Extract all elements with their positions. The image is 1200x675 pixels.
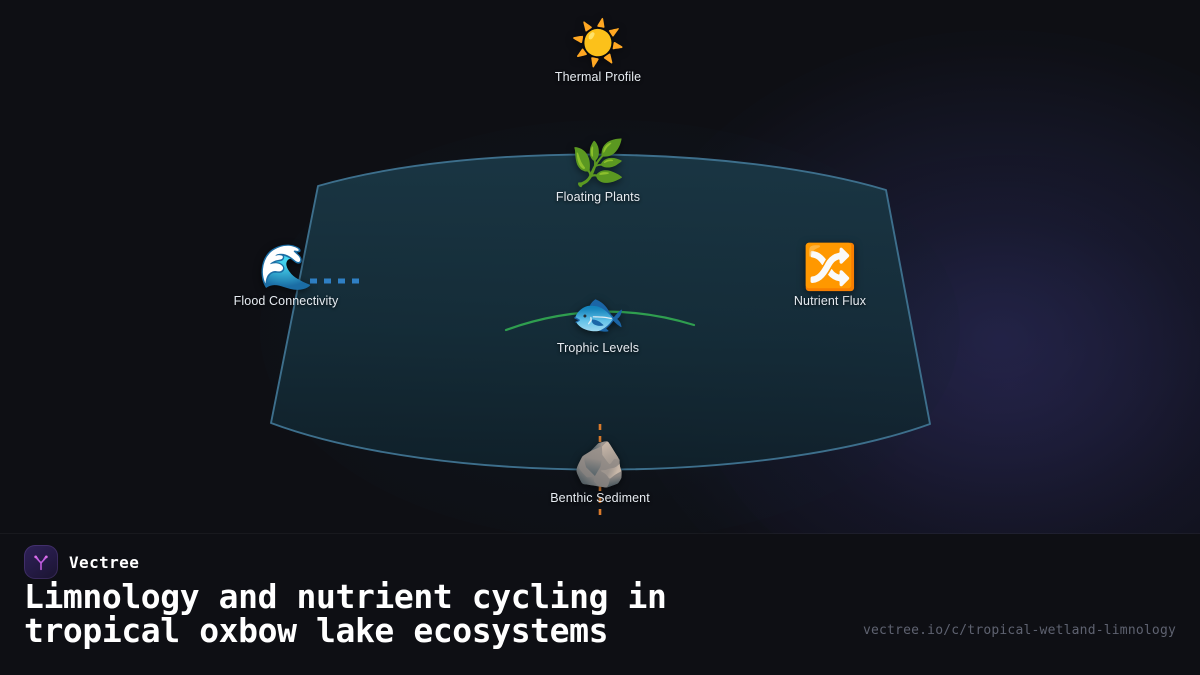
node-label-flood-connectivity: Flood Connectivity bbox=[191, 294, 381, 308]
deck-title: Limnology and nutrient cycling in tropic… bbox=[24, 580, 784, 648]
node-benthic-sediment[interactable]: 🪨 Benthic Sediment bbox=[505, 441, 695, 505]
node-thermal-profile[interactable]: ☀️ Thermal Profile bbox=[503, 20, 693, 84]
node-label-benthic-sediment: Benthic Sediment bbox=[505, 491, 695, 505]
node-trophic-levels[interactable]: 🐟 Trophic Levels bbox=[503, 291, 693, 355]
herb-leaf-icon: 🌿 bbox=[503, 140, 693, 188]
node-label-trophic-levels: Trophic Levels bbox=[503, 341, 693, 355]
brand-name: Vectree bbox=[69, 553, 139, 572]
diagram-canvas: ☀️ Thermal Profile 🌿 Floating Plants 🌊 F… bbox=[0, 0, 1200, 675]
node-floating-plants[interactable]: 🌿 Floating Plants bbox=[503, 140, 693, 204]
sun-icon: ☀️ bbox=[503, 20, 693, 68]
footer-bar: Vectree Limnology and nutrient cycling i… bbox=[0, 534, 1200, 675]
brand-row[interactable]: Vectree bbox=[24, 545, 139, 579]
node-flood-connectivity[interactable]: 🌊 Flood Connectivity bbox=[191, 244, 381, 308]
deck-url: vectree.io/c/tropical-wetland-limnology bbox=[863, 623, 1176, 638]
vectree-mark-icon bbox=[30, 551, 52, 573]
water-wave-icon: 🌊 bbox=[191, 244, 381, 292]
vectree-logo bbox=[24, 545, 58, 579]
swap-arrows-icon: 🔀 bbox=[735, 244, 925, 292]
node-label-thermal-profile: Thermal Profile bbox=[503, 70, 693, 84]
node-nutrient-flux[interactable]: 🔀 Nutrient Flux bbox=[735, 244, 925, 308]
fish-icon: 🐟 bbox=[503, 291, 693, 339]
node-label-floating-plants: Floating Plants bbox=[503, 190, 693, 204]
rock-icon: 🪨 bbox=[505, 441, 695, 489]
node-label-nutrient-flux: Nutrient Flux bbox=[735, 294, 925, 308]
